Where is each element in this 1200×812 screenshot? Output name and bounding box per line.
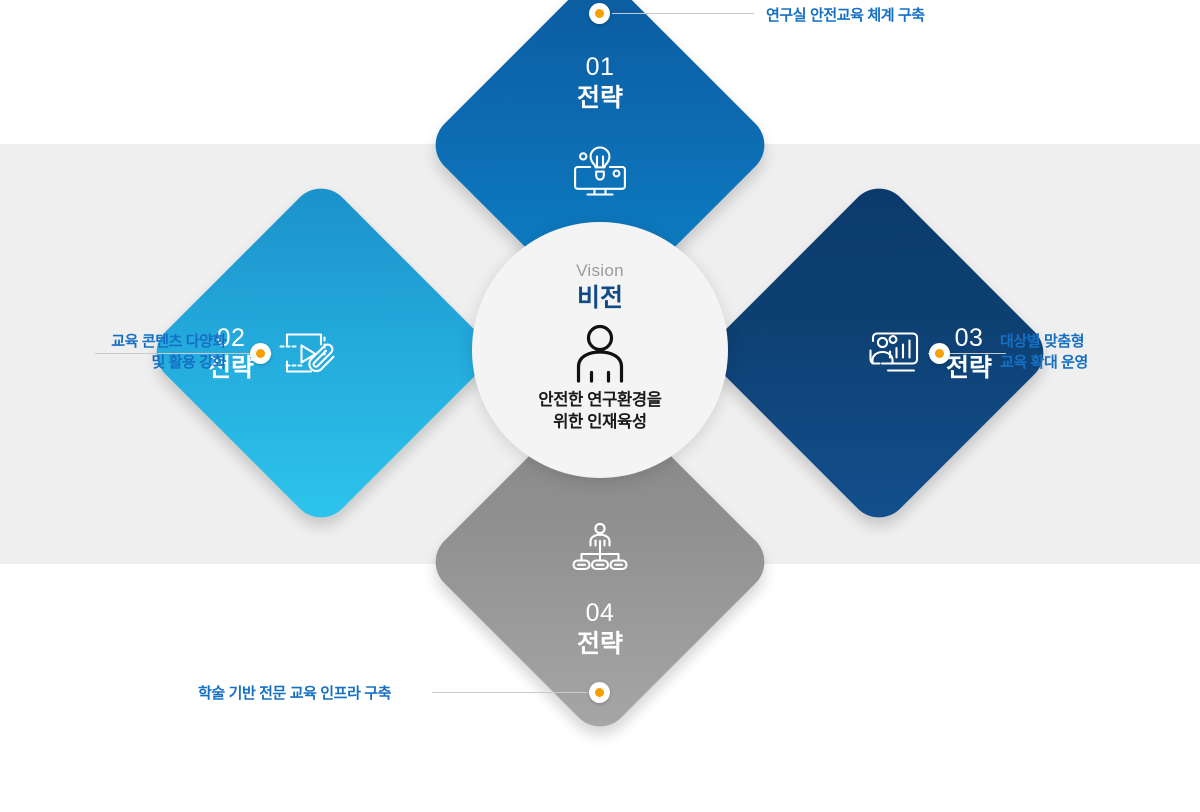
strategy-04-number: 04: [577, 598, 623, 629]
strategy-04-word: 전략: [577, 629, 623, 660]
connector-line-bottom: [432, 692, 600, 693]
strategy-03-word: 전략: [946, 353, 992, 384]
strategy-01-outer-label: 연구실 안전교육 체계 구축: [766, 5, 925, 26]
monitor-lightbulb-icon: [568, 143, 632, 199]
strategy-03-outer-label: 대상별 맞춤형 교육 확대 운영: [1000, 331, 1088, 374]
strategy-01-outer-label-line-1: 연구실 안전교육 체계 구축: [766, 5, 925, 26]
strategy-04-number-block: 04 전략: [577, 598, 623, 659]
strategy-01-word: 전략: [577, 83, 623, 114]
vision-center-circle: Vision 비전 안전한 연구환경을 위한 인재육성: [472, 222, 728, 478]
strategy-04-outer-label: 학술 기반 전문 교육 인프라 구축: [198, 683, 391, 704]
strategy-04-outer-label-line-1: 학술 기반 전문 교육 인프라 구축: [198, 683, 391, 704]
strategy-03-number: 03: [946, 323, 992, 354]
node-dot-bottom[interactable]: [589, 682, 610, 703]
strategy-02-outer-label: 교육 콘텐츠 다양화 및 활용 강화: [86, 331, 226, 374]
connector-line-top: [612, 13, 754, 14]
org-chart-icon: [568, 520, 632, 576]
person-icon: [572, 324, 628, 386]
strategy-01-number: 01: [577, 52, 623, 83]
strategy-02-outer-label-line-2: 및 활용 강화: [86, 352, 226, 373]
strategy-03-outer-label-line-2: 교육 확대 운영: [1000, 352, 1088, 373]
node-dot-right[interactable]: [929, 343, 950, 364]
vision-label-en: Vision: [576, 262, 624, 279]
person-barchart-icon: [860, 325, 924, 381]
vision-description-line-1: 안전한 연구환경을: [538, 390, 661, 412]
strategy-02-outer-label-line-1: 교육 콘텐츠 다양화: [86, 331, 226, 352]
vision-description-line-2: 위한 인재육성: [538, 412, 661, 434]
strategy-01-number-block: 01 전략: [577, 52, 623, 113]
vision-description: 안전한 연구환경을 위한 인재육성: [538, 390, 661, 434]
vision-label-ko: 비전: [577, 286, 623, 311]
node-dot-left[interactable]: [250, 343, 271, 364]
vision-strategy-diagram: 01 전략 02 전략: [0, 0, 1200, 708]
node-dot-top[interactable]: [589, 3, 610, 24]
video-attachment-icon: [276, 325, 340, 381]
strategy-03-outer-label-line-1: 대상별 맞춤형: [1000, 331, 1088, 352]
